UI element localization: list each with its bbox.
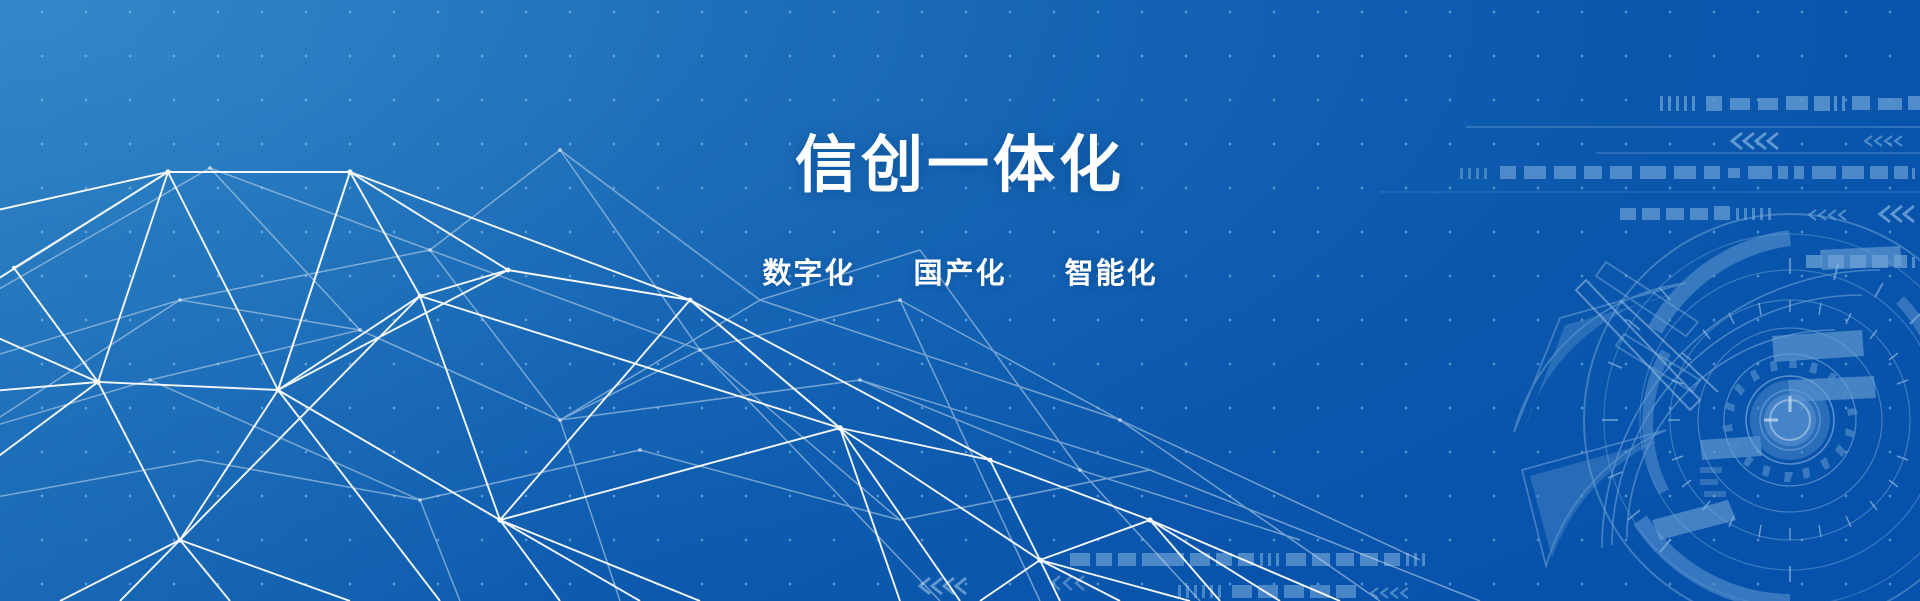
- banner-root: 信创一体化 数字化 国产化 智能化: [0, 0, 1920, 601]
- polygon-network-mesh: [0, 0, 1920, 601]
- mesh-nodes-dim: [148, 148, 1122, 502]
- mesh-lines-dim: [0, 150, 1480, 601]
- mesh-lines-bright: [0, 172, 1340, 601]
